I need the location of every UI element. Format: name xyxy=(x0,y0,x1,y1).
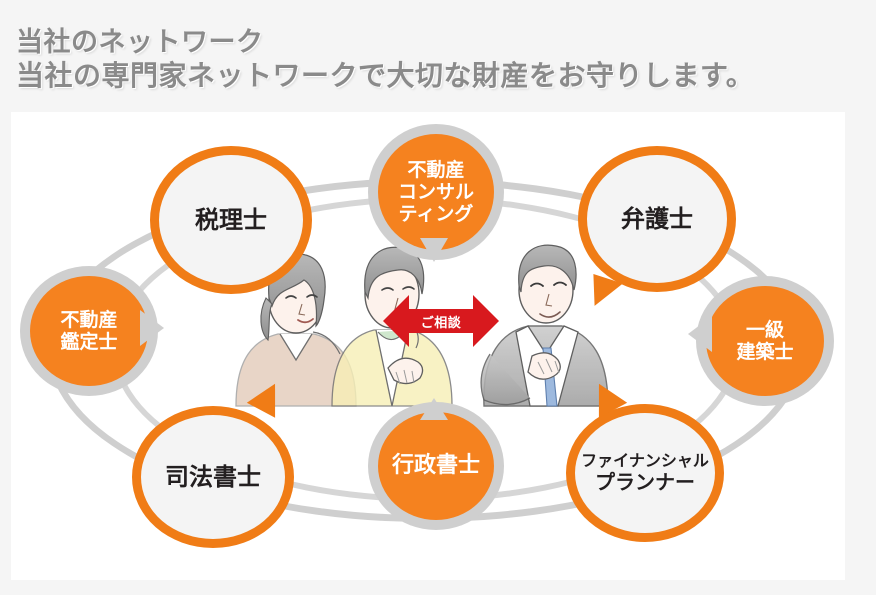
page-title: 当社のネットワーク 当社の専門家ネットワークで大切な財産をお守りします。 xyxy=(16,26,866,93)
node-administrative-scrivener-label: 行政書士 xyxy=(392,453,480,479)
appraise-line-2: 鑑定士 xyxy=(60,331,117,353)
node-first-class-architect[interactable]: 一級 建築士 xyxy=(706,286,824,396)
node-lawyer-label: 弁護士 xyxy=(621,205,693,233)
node-financial-planner-label: ファイナンシャル プランナー xyxy=(581,452,709,494)
bubble-tail-appraiser-icon xyxy=(140,310,164,346)
network-diagram-canvas: 当社のネットワーク 当社の専門家ネットワークで大切な財産をお守りします。 xyxy=(0,0,876,595)
consult-line-3: ティング xyxy=(399,203,474,225)
consult-line-1: 不動産 xyxy=(407,159,464,181)
node-financial-planner[interactable]: ファイナンシャル プランナー xyxy=(566,404,724,542)
bubble-tail-consulting-icon xyxy=(420,238,448,262)
fp-line-1: ファイナンシャル xyxy=(581,451,709,470)
node-realestate-appraiser[interactable]: 不動産 鑑定士 xyxy=(30,276,148,386)
bubble-tail-architect-icon xyxy=(688,316,712,352)
node-realestate-appraiser-label: 不動産 鑑定士 xyxy=(60,309,117,353)
node-tax-accountant[interactable]: 税理士 xyxy=(150,146,312,294)
advisor-man xyxy=(481,245,608,406)
consult-line-2: コンサル xyxy=(398,181,474,203)
bubble-tail-administrative-icon xyxy=(420,398,448,420)
node-realestate-consulting[interactable]: 不動産 コンサル ティング xyxy=(378,134,494,250)
node-first-class-architect-label: 一級 建築士 xyxy=(736,319,793,363)
heading-line-1: 当社のネットワーク xyxy=(16,26,866,59)
appraise-line-1: 不動産 xyxy=(60,309,117,331)
arch-line-2: 建築士 xyxy=(736,341,793,363)
heading-line-2: 当社の専門家ネットワークで大切な財産をお守りします。 xyxy=(16,59,866,93)
consultation-arrow: ご相談 xyxy=(383,292,499,350)
node-lawyer[interactable]: 弁護士 xyxy=(578,146,736,292)
arch-line-1: 一級 xyxy=(746,319,784,341)
node-judicial-scrivener-label: 司法書士 xyxy=(165,463,261,491)
node-administrative-scrivener[interactable]: 行政書士 xyxy=(378,412,494,520)
node-judicial-scrivener[interactable]: 司法書士 xyxy=(132,406,294,548)
node-realestate-consulting-label: 不動産 コンサル ティング xyxy=(398,159,474,226)
fp-line-2: プランナー xyxy=(581,471,709,494)
node-tax-accountant-label: 税理士 xyxy=(195,206,267,234)
